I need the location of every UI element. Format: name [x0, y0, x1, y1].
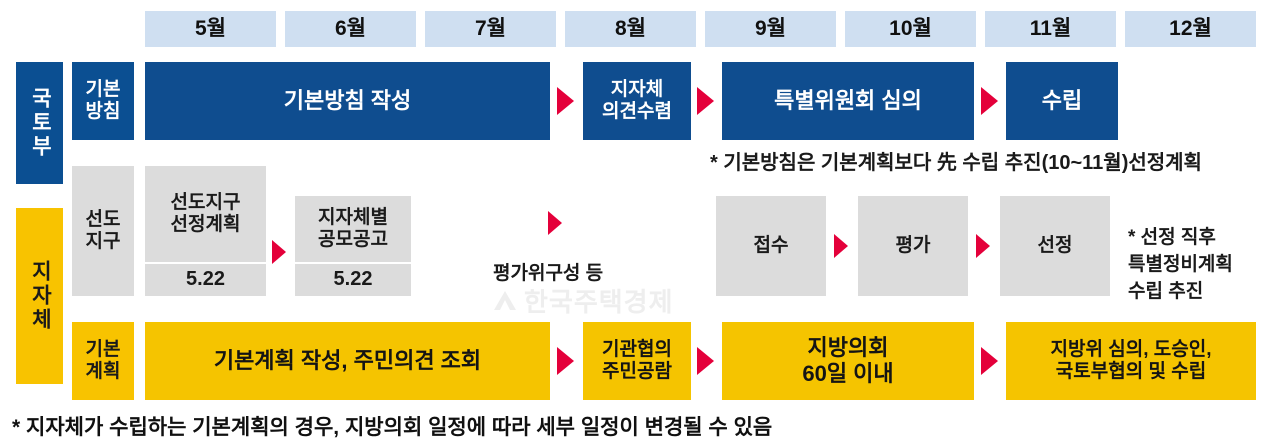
stub-basic-policy: 기본 방침	[72, 62, 134, 140]
arrow-icon-pilot-2	[548, 211, 562, 235]
note-basic-policy: * 기본방침은 기본계획보다 先 수립 추진(10~11월)선정계획	[710, 150, 1202, 177]
watermark-mark-icon	[492, 288, 518, 314]
task-local-government-public-notice: 지자체별 공모공고	[295, 196, 411, 262]
arrow-icon-plan-1	[557, 347, 574, 375]
rail-label-local-government: 지자체	[16, 208, 63, 384]
arrow-icon-policy-2	[697, 87, 714, 115]
arrow-icon-pilot-4	[976, 234, 990, 258]
arrow-icon-policy-3	[981, 87, 998, 115]
month-header-5: 5월	[145, 11, 276, 47]
task-pilot-district-selection-plan: 선도지구 선정계획	[145, 166, 266, 262]
task-local-opinion-gathering: 지자체 의견수렴	[583, 62, 691, 140]
month-header-8: 8월	[565, 11, 696, 47]
task-policy-establishment: 수립	[1006, 62, 1118, 140]
month-header-7: 7월	[425, 11, 556, 47]
task-local-council-review: 지방의회 60일 이내	[722, 322, 974, 400]
footnote-text: * 지자체가 수립하는 기본계획의 경우, 지방의회 일정에 따라 세부 일정이…	[12, 411, 772, 441]
task-basic-plan-drafting: 기본계획 작성, 주민의견 조회	[145, 322, 550, 400]
month-header-6: 6월	[285, 11, 416, 47]
arrow-icon-plan-2	[697, 347, 714, 375]
stub-basic-plan: 기본 계획	[72, 322, 134, 400]
date-local-government-public-notice: 5.22	[295, 264, 411, 296]
task-evaluation: 평가	[858, 196, 968, 296]
watermark-logo: 한국주택경제	[492, 282, 674, 319]
month-header-10: 10월	[845, 11, 976, 47]
month-header-12: 12월	[1125, 11, 1256, 47]
stub-pilot-district: 선도 지구	[72, 166, 134, 296]
task-approval-and-establishment: 지방위 심의, 도승인, 국토부협의 및 수립	[1006, 322, 1256, 400]
arrow-icon-policy-1	[557, 87, 574, 115]
task-agency-consultation: 기관협의 주민공람	[583, 322, 691, 400]
arrow-icon-plan-3	[981, 347, 998, 375]
arrow-icon-pilot-1	[272, 240, 286, 264]
task-basic-policy-drafting: 기본방침 작성	[145, 62, 550, 140]
task-special-committee-review: 특별위원회 심의	[722, 62, 974, 140]
arrow-icon-pilot-3	[834, 234, 848, 258]
rail-label-ministry: 국토부	[16, 62, 63, 184]
watermark-text: 한국주택경제	[524, 282, 674, 319]
date-pilot-district-selection-plan: 5.22	[145, 264, 266, 296]
label-evaluation-committee-formation: 평가위구성 등	[493, 258, 603, 285]
month-header-9: 9월	[705, 11, 836, 47]
note-pilot-district: * 선정 직후 특별정비계획 수립 추진	[1128, 222, 1233, 303]
timeline-diagram: 5월 6월 7월 8월 9월 10월 11월 12월 국토부 지자체 기본 방침…	[0, 0, 1280, 444]
month-header-11: 11월	[985, 11, 1116, 47]
task-final-selection: 선정	[1000, 196, 1110, 296]
task-application-receipt: 접수	[716, 196, 826, 296]
